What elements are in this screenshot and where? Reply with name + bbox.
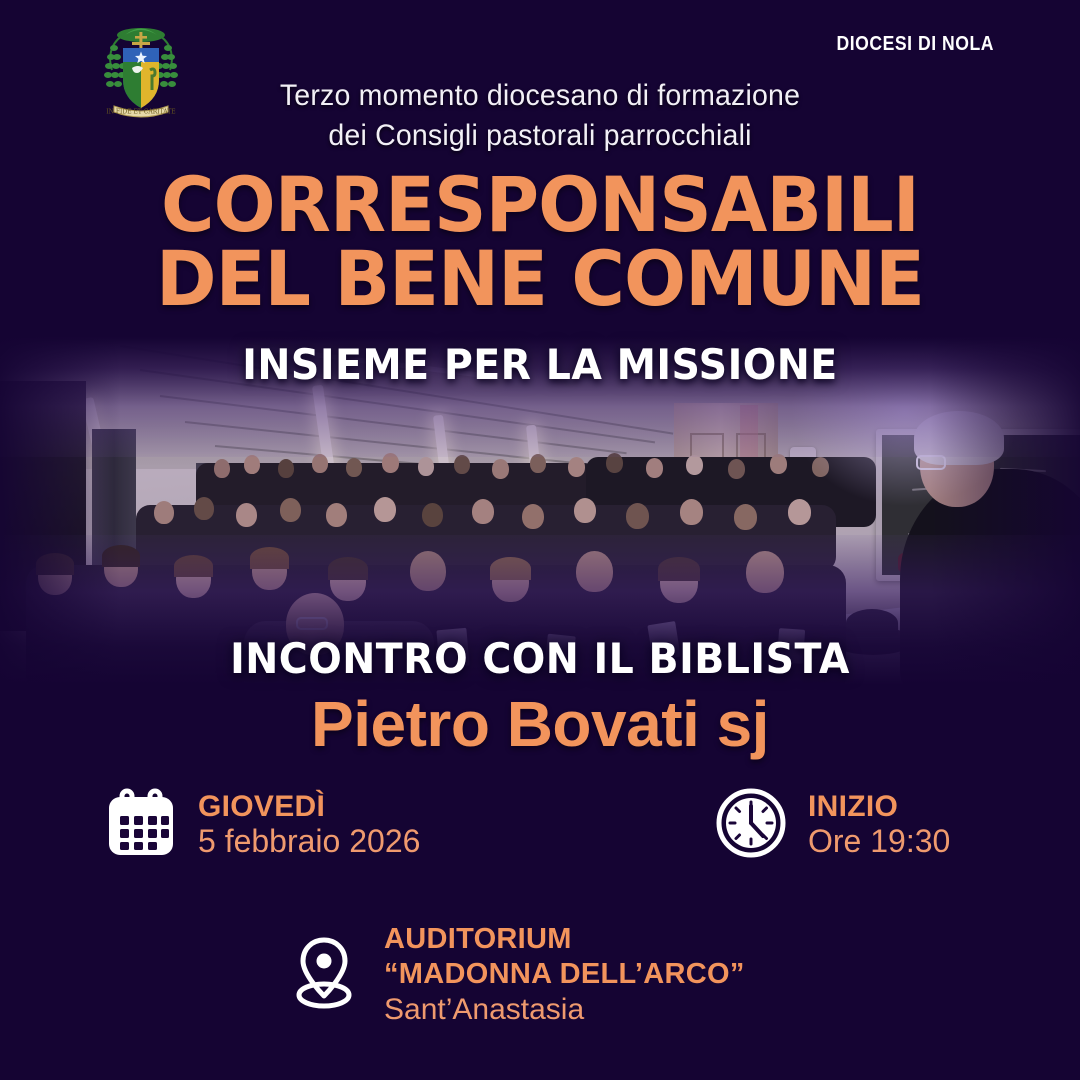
date-info: GIOVEDÌ 5 febbraio 2026: [104, 786, 420, 865]
photo-fade-right: [930, 337, 1080, 685]
photo-fade-left: [0, 337, 120, 685]
place-line-3: Sant’Anastasia: [384, 992, 745, 1029]
kicker-line-1: Terzo momento diocesano di formazione: [27, 76, 1053, 116]
place-info: AUDITORIUM “MADONNA DELL’ARCO” Sant’Anas…: [286, 922, 745, 1028]
time-heading: INIZIO: [808, 790, 950, 824]
page-title: CORRESPONSABILI DEL BENE COMUNE: [22, 168, 1059, 315]
event-photo: [0, 337, 1080, 685]
event-info-row: GIOVEDÌ 5 febbraio 2026: [0, 786, 1080, 896]
date-value: 5 febbraio 2026: [198, 823, 420, 861]
clock-icon: [714, 786, 788, 865]
title-line-2: DEL BENE COMUNE: [22, 242, 1059, 316]
event-poster: IN FIDE ET CARITATE DIOCESI DI NOLA Terz…: [0, 0, 1080, 1080]
place-line-2: “MADONNA DELL’ARCO”: [384, 957, 745, 992]
photo-scene: [0, 337, 1080, 685]
time-info: INIZIO Ore 19:30: [714, 786, 950, 865]
speaker-name: Pietro Bovati sj: [0, 692, 1080, 756]
time-value: Ore 19:30: [808, 823, 950, 861]
date-heading: GIOVEDÌ: [198, 790, 420, 824]
location-pin-icon: [286, 932, 362, 1019]
place-line-1: AUDITORIUM: [384, 922, 745, 957]
overlay-bottom-text: INCONTRO CON IL BIBLISTA: [32, 634, 1047, 683]
kicker-line-2: dei Consigli pastorali parrocchiali: [27, 116, 1053, 156]
overlay-top-text: INSIEME PER LA MISSIONE: [32, 340, 1047, 389]
event-kicker: Terzo momento diocesano di formazione de…: [27, 76, 1053, 156]
diocese-label: DIOCESI DI NOLA: [836, 33, 994, 56]
calendar-icon: [104, 786, 178, 865]
